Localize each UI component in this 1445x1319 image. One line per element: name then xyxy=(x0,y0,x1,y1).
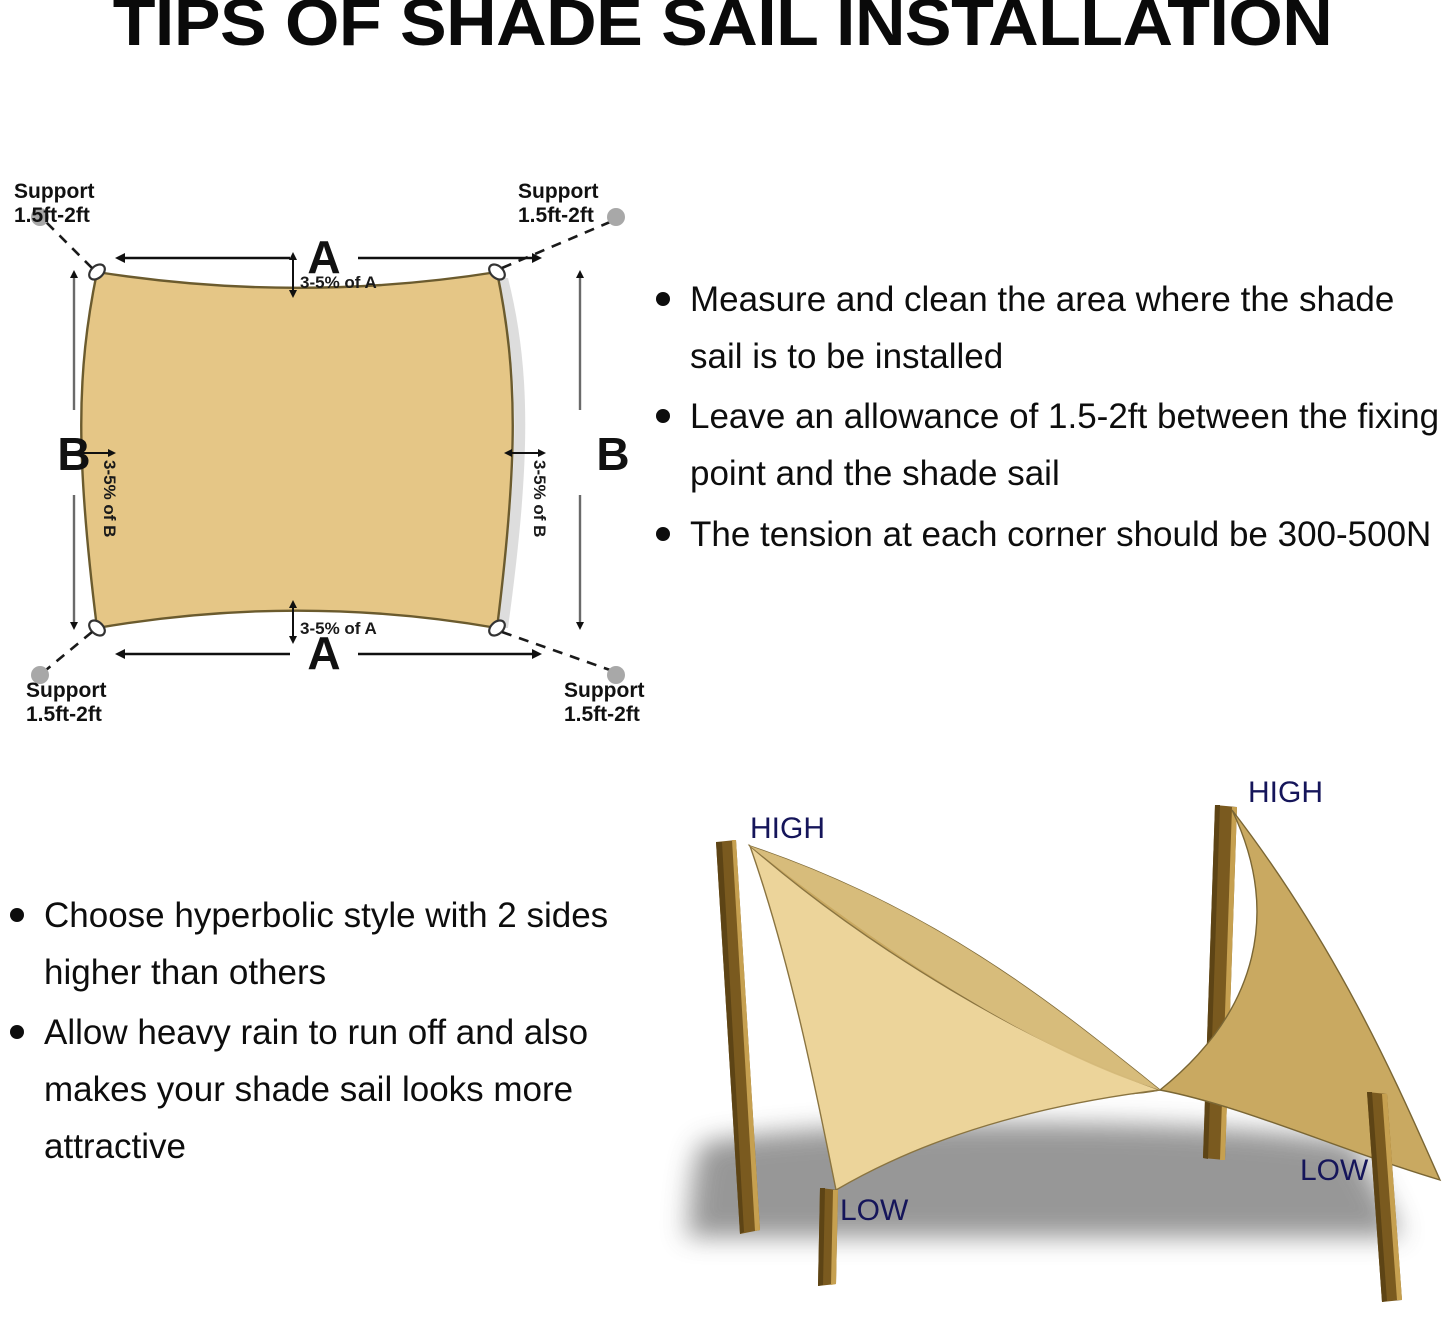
curve-depth-label-left: 3-5% of B xyxy=(100,460,119,537)
list-item: Allow heavy rain to run off and also mak… xyxy=(2,1005,622,1175)
ground-shadow xyxy=(686,1123,1400,1237)
tips-list-hyperbolic: Choose hyperbolic style with 2 sides hig… xyxy=(2,888,622,1179)
curve-depth-label-right: 3-5% of B xyxy=(530,460,549,537)
support-label-top-right-line1: Support xyxy=(518,180,598,203)
page-title: TIPS OF SHADE SAIL INSTALLATION xyxy=(0,0,1445,60)
support-label-bottom-left-line2: 1.5ft-2ft xyxy=(26,703,102,726)
label-high-left: HIGH xyxy=(750,812,825,845)
rect-sail-diagram: A A B B 3-5% of A xyxy=(0,160,645,740)
post-low-left xyxy=(818,1188,838,1286)
curve-depth-label-top: 3-5% of A xyxy=(300,273,377,292)
support-label-top-right-line2: 1.5ft-2ft xyxy=(518,204,594,227)
support-label-bottom-right-line1: Support xyxy=(564,679,644,702)
infographic-page: TIPS OF SHADE SAIL INSTALLATION xyxy=(0,0,1445,1319)
list-item: Measure and clean the area where the sha… xyxy=(648,272,1445,385)
support-label-bottom-right-line2: 1.5ft-2ft xyxy=(564,703,640,726)
tips-list-installation: Measure and clean the area where the sha… xyxy=(648,272,1445,567)
support-label-bottom-left-line1: Support xyxy=(26,679,106,702)
list-item: Leave an allowance of 1.5-2ft between th… xyxy=(648,389,1445,502)
label-low-right: LOW xyxy=(1300,1154,1369,1187)
hypar-sail-illustration: HIGH HIGH LOW LOW xyxy=(640,760,1445,1319)
support-label-top-left-line2: 1.5ft-2ft xyxy=(14,204,90,227)
shade-sail-shape xyxy=(81,272,513,628)
curve-depth-label-bottom: 3-5% of A xyxy=(300,619,377,638)
label-high-right: HIGH xyxy=(1248,776,1323,809)
list-item: Choose hyperbolic style with 2 sides hig… xyxy=(2,888,622,1001)
support-label-top-left-line1: Support xyxy=(14,180,94,203)
list-item: The tension at each corner should be 300… xyxy=(648,507,1445,564)
dimension-label-b-right: B xyxy=(596,428,629,480)
label-low-left: LOW xyxy=(840,1194,909,1227)
